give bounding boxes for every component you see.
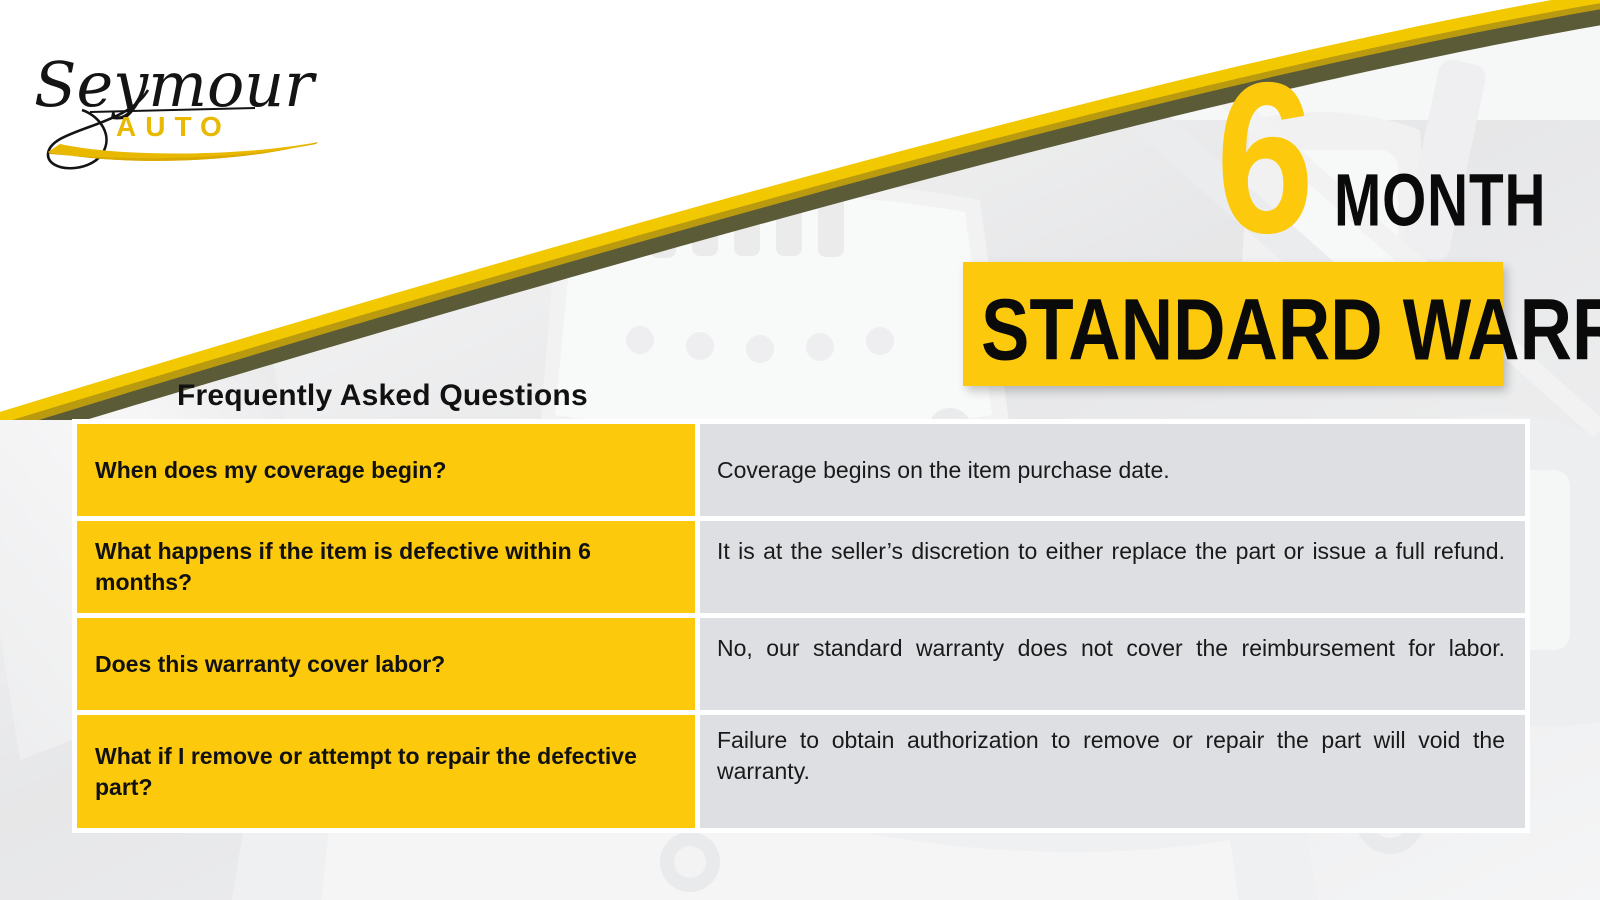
faq-question-cell: Does this warranty cover labor? <box>77 618 695 710</box>
warranty-slide: Seymour AUTO 6 MONTH STANDARD WARRANTY F… <box>0 0 1600 900</box>
table-row: What if I remove or attempt to repair th… <box>77 715 1525 828</box>
faq-answer-text: No, our standard warranty does not cover… <box>717 633 1505 695</box>
seymour-auto-logo: Seymour AUTO <box>30 24 340 174</box>
table-row: What happens if the item is defective wi… <box>77 521 1525 613</box>
logo-auto-text: AUTO <box>116 111 231 142</box>
warranty-duration-unit: MONTH <box>1334 163 1546 237</box>
faq-answer-cell: It is at the seller’s discretion to eith… <box>700 521 1525 613</box>
faq-question-cell: What happens if the item is defective wi… <box>77 521 695 613</box>
faq-answer-text: Coverage begins on the item purchase dat… <box>717 455 1505 486</box>
faq-question-cell: When does my coverage begin? <box>77 424 695 516</box>
standard-warranty-banner-text: STANDARD WARRANTY <box>981 282 1465 376</box>
table-row: When does my coverage begin? Coverage be… <box>77 424 1525 516</box>
faq-question-cell: What if I remove or attempt to repair th… <box>77 715 695 828</box>
faq-heading: Frequently Asked Questions <box>177 379 588 413</box>
standard-warranty-banner: STANDARD WARRANTY <box>963 262 1503 386</box>
table-row: Does this warranty cover labor? No, our … <box>77 618 1525 710</box>
warranty-duration-number: 6 <box>1216 58 1311 258</box>
faq-question-text: Does this warranty cover labor? <box>95 649 445 680</box>
faq-question-text: What happens if the item is defective wi… <box>95 536 679 598</box>
faq-answer-cell: No, our standard warranty does not cover… <box>700 618 1525 710</box>
faq-answer-cell: Coverage begins on the item purchase dat… <box>700 424 1525 516</box>
faq-question-text: What if I remove or attempt to repair th… <box>95 741 679 803</box>
faq-table: When does my coverage begin? Coverage be… <box>72 419 1530 833</box>
faq-answer-cell: Failure to obtain authorization to remov… <box>700 715 1525 828</box>
faq-question-text: When does my coverage begin? <box>95 455 446 486</box>
faq-answer-text: Failure to obtain authorization to remov… <box>717 725 1505 818</box>
faq-answer-text: It is at the seller’s discretion to eith… <box>717 536 1505 598</box>
